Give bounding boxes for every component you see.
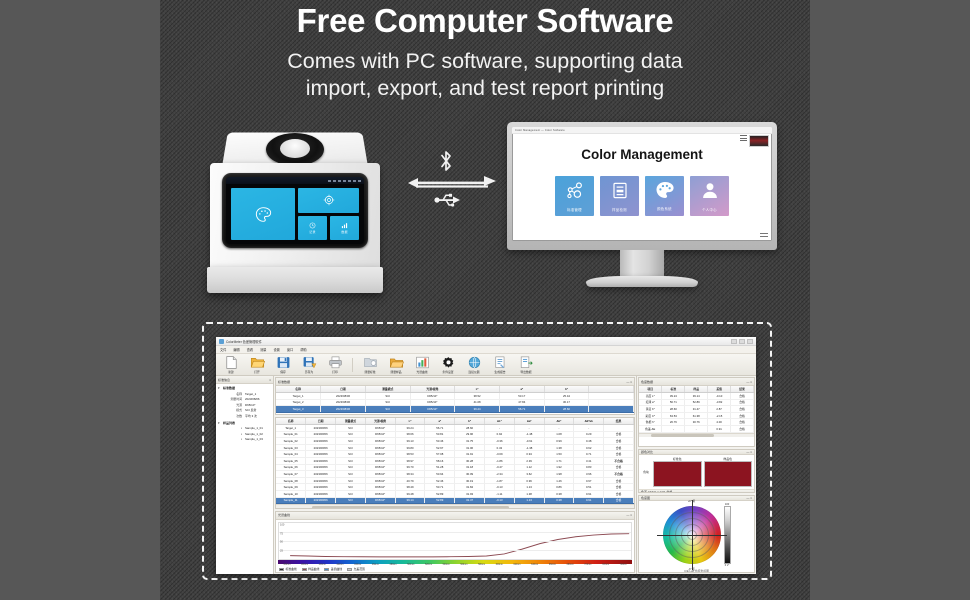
property-value: Target_1 bbox=[245, 392, 256, 396]
maximize-button[interactable] bbox=[739, 339, 745, 344]
device-tile-row: 记录 数据 bbox=[298, 216, 359, 241]
horizontal-scrollbar[interactable] bbox=[639, 433, 754, 437]
cell: 26.76 bbox=[662, 419, 685, 426]
cell: 2023/08/06 bbox=[306, 444, 336, 451]
cell: 0.91 bbox=[574, 497, 604, 504]
y-tick-100: 100 bbox=[280, 523, 284, 526]
minimize-icon[interactable]: — bbox=[746, 450, 749, 454]
cell: 53.81 bbox=[425, 431, 455, 438]
report-icon bbox=[493, 356, 508, 369]
device-tile-grid: 记录 数据 bbox=[231, 188, 359, 240]
cell: 51.28 bbox=[425, 464, 455, 471]
property-row: 光源 D65/10° bbox=[224, 403, 271, 407]
property-key: 次数 bbox=[224, 414, 242, 418]
cell: - bbox=[544, 425, 574, 432]
cell: D65/10° bbox=[365, 425, 395, 432]
toolbar-button-connect-label: 连接仪器 bbox=[468, 370, 479, 374]
table-row[interactable]: Sample_102023/08/06SCID65/10°39.4852.893… bbox=[276, 490, 634, 497]
close-icon[interactable]: × bbox=[750, 496, 752, 500]
cell: -1.86 bbox=[484, 457, 514, 464]
toolbar-button-save[interactable]: 保存 bbox=[272, 356, 294, 374]
palette-icon bbox=[655, 181, 675, 204]
cell: 56.71 bbox=[499, 406, 544, 413]
toolbar-button-measure-sample[interactable]: 测量样品 bbox=[385, 356, 407, 374]
tree-node-standard-data[interactable]: ▾ 标准数据 bbox=[218, 386, 271, 390]
monitor-tile-grid: 标准管理 样品检测 bbox=[555, 176, 729, 216]
tree-sample-item[interactable]: ▪ Sample_1_02 bbox=[224, 432, 271, 436]
minimize-icon[interactable]: — bbox=[746, 496, 749, 500]
cell: Sample_10 bbox=[276, 490, 306, 497]
bar-chart-icon bbox=[341, 222, 348, 229]
cell: 合格 bbox=[604, 484, 634, 491]
cell: 0.48 bbox=[574, 438, 604, 445]
colorimetry-header: 色度数据 — × bbox=[639, 378, 754, 386]
device-status-dot bbox=[333, 180, 336, 182]
scrollbar-thumb[interactable] bbox=[651, 434, 714, 437]
chart-icon bbox=[415, 356, 430, 369]
device-body: 记录 数据 bbox=[210, 163, 380, 281]
standard-data-pane: 标准数据 — × 名称 日期 测量模式 光源/视角 L* bbox=[275, 377, 635, 415]
cell: -0.61 bbox=[514, 438, 544, 445]
legend-label: 允差范围 bbox=[354, 567, 365, 571]
cell: Sample_09 bbox=[276, 484, 306, 491]
menu-item-window[interactable]: 窗口 bbox=[287, 347, 293, 352]
cell: 31.47 bbox=[685, 406, 708, 413]
measure-sample-icon bbox=[389, 356, 404, 369]
property-value: 2023/08/06 bbox=[245, 397, 259, 401]
cell: Sample_01 bbox=[276, 431, 306, 438]
y-tick-50: 50 bbox=[280, 541, 283, 544]
cell: D65/10° bbox=[365, 484, 395, 491]
close-icon[interactable]: × bbox=[750, 380, 752, 384]
toolbar-button-print[interactable]: 打印 bbox=[324, 356, 346, 374]
cell: D65/10° bbox=[365, 431, 395, 438]
colorimetry-panel-buttons[interactable]: — × bbox=[746, 380, 752, 384]
chart-gridlines bbox=[279, 523, 631, 559]
device-tile-data[interactable]: 数据 bbox=[330, 216, 359, 241]
cell: -0.13 bbox=[484, 484, 514, 491]
minimize-icon[interactable]: — bbox=[626, 380, 629, 384]
cell: 合格 bbox=[604, 451, 634, 458]
table-row[interactable]: 色相 h°26.7630.764.00合格 bbox=[639, 419, 754, 426]
table-row[interactable]: Sample_022023/08/06SCID65/10°39.1353.463… bbox=[276, 438, 634, 445]
cell: 39.48 bbox=[395, 490, 425, 497]
wheel-top-label: +b* 黄 bbox=[688, 499, 695, 503]
legend-label: 标准曲线 bbox=[286, 567, 297, 571]
chart-legend: 标准曲线 样品曲线 差值曲线 允差范围 bbox=[276, 566, 634, 572]
cell: 0.91 bbox=[708, 425, 731, 432]
color-compare-title: 颜色对比 bbox=[641, 450, 653, 454]
user-icon bbox=[701, 181, 719, 205]
cell: SCI bbox=[336, 438, 366, 445]
standard-data-table: 名称 日期 测量模式 光源/视角 L* a* b* Target_1 bbox=[276, 386, 634, 413]
cell: 合格 bbox=[604, 497, 634, 504]
target-measure-icon bbox=[323, 194, 335, 206]
cell: SCI bbox=[336, 451, 366, 458]
monitor-tile-standard-management-label: 标准管理 bbox=[567, 207, 582, 212]
close-icon[interactable]: × bbox=[750, 450, 752, 454]
report-list-icon bbox=[611, 181, 629, 205]
toolbar-button-settings[interactable]: 条件设置 bbox=[437, 356, 459, 374]
cell: -1.11 bbox=[484, 490, 514, 497]
toolbar-button-save-label: 保存 bbox=[280, 370, 286, 374]
toolbar-button-open[interactable]: 打开 bbox=[246, 356, 268, 374]
toolbar-button-connect[interactable]: 连接仪器 bbox=[463, 356, 485, 374]
legend-swatch bbox=[324, 568, 329, 571]
connection-indicator bbox=[408, 150, 496, 222]
cell: 1.50 bbox=[544, 451, 574, 458]
cell: 0.99 bbox=[544, 438, 574, 445]
center-panel: 标准数据 — × 名称 日期 测量模式 光源/视角 L* bbox=[274, 376, 636, 574]
tree-sample-label: Sample_1_02 bbox=[245, 432, 263, 436]
tree-sample-bullet: ▪ bbox=[224, 432, 242, 436]
cell: 30.19 bbox=[455, 477, 485, 484]
monitor-frame: Color Management — Color Software Color … bbox=[507, 122, 777, 250]
property-key: 光源 bbox=[224, 403, 242, 407]
cell: 63.53 bbox=[662, 412, 685, 419]
table-row[interactable]: 彩度 C*63.5361.38-2.15合格 bbox=[639, 412, 754, 419]
cell: 40.79 bbox=[395, 477, 425, 484]
cell: 58.16 bbox=[425, 457, 455, 464]
cell: 0.86 bbox=[544, 484, 574, 491]
device-tile-history-label: 记录 bbox=[309, 230, 316, 234]
cell: SCI bbox=[336, 477, 366, 484]
tree-node-sample-list-label: 样品列表 bbox=[223, 421, 235, 425]
monitor-window-title: Color Management — Color Software bbox=[515, 129, 565, 132]
toolbar-button-new[interactable]: 新建 bbox=[220, 356, 242, 374]
menu-item-measure[interactable]: 测量 bbox=[260, 347, 266, 352]
sample-data-table: 名称 日期 测量模式 光源/视角 L* a* b* ΔL* Δa* Δb* ΔE… bbox=[276, 418, 634, 504]
cell: SCI bbox=[336, 425, 366, 432]
tree-node-standard-data-label: 标准数据 bbox=[223, 386, 235, 390]
cell: 39.14 bbox=[685, 393, 708, 400]
cell: 1.38 bbox=[544, 444, 574, 451]
property-row: 模式 SCI 反射 bbox=[224, 408, 271, 412]
device-measure-aperture-icon bbox=[280, 139, 310, 158]
cell: 31.84 bbox=[455, 484, 485, 491]
toolbar-button-spectral-chart[interactable]: 光谱曲线 bbox=[411, 356, 433, 374]
table-row[interactable]: Target_2 2023/08/06 SCI D65/10° 41.08 47… bbox=[276, 399, 634, 406]
cell: 52.46 bbox=[425, 477, 455, 484]
cell: Target_1 bbox=[276, 425, 306, 432]
table-row[interactable]: Sample_032023/08/06SCID65/10°39.8052.973… bbox=[276, 444, 634, 451]
legend-label: 差值曲线 bbox=[331, 567, 342, 571]
cell: 25.44 bbox=[544, 393, 589, 400]
app-icon bbox=[219, 339, 224, 344]
tree-node-sample-list[interactable]: ▾ 样品列表 bbox=[218, 421, 271, 425]
device-status-dot bbox=[328, 180, 331, 182]
wheel-axis-vertical bbox=[692, 500, 693, 570]
cell: 1.92 bbox=[544, 464, 574, 471]
table-row[interactable]: Target_1 2023/08/06 SCI D65/10° 38.52 53… bbox=[276, 393, 634, 400]
cell: -1.87 bbox=[484, 477, 514, 484]
property-value: SCI 反射 bbox=[245, 408, 256, 412]
page-subtitle-line2: import, export, and test report printing bbox=[0, 75, 970, 102]
cell: 2023/08/06 bbox=[306, 497, 336, 504]
app-title: ColorMeter 色差管理软件 bbox=[226, 339, 262, 344]
cell: SCI bbox=[336, 464, 366, 471]
cell: 1.08 bbox=[544, 431, 574, 438]
cell: 合格 bbox=[604, 444, 634, 451]
toolbar-button-measure-standard[interactable]: 测量标准 bbox=[359, 356, 381, 374]
cell: - bbox=[484, 425, 514, 432]
close-button[interactable] bbox=[747, 339, 753, 344]
cell: 2023/08/06 bbox=[306, 425, 336, 432]
left-panel-close-icon[interactable]: × bbox=[269, 378, 271, 382]
table-row[interactable]: Sample_062023/08/06SCID65/10°39.7051.283… bbox=[276, 464, 634, 471]
cell bbox=[589, 393, 634, 400]
minimize-icon[interactable]: — bbox=[626, 513, 629, 517]
cell: 合格 bbox=[604, 477, 634, 484]
page-subtitle-line1: Comes with PC software, supporting data bbox=[0, 48, 970, 75]
toolbar-button-save-as[interactable]: 另存为 bbox=[298, 356, 320, 374]
cell: 3.96 bbox=[574, 471, 604, 478]
table-row[interactable]: 黄蓝 b*28.6031.472.87合格 bbox=[639, 406, 754, 413]
cell: Sample_03 bbox=[276, 444, 306, 451]
spectral-chart-panel-buttons[interactable]: — × bbox=[626, 513, 632, 517]
cell: 28.60 bbox=[544, 406, 589, 413]
monitor-tile-color-system[interactable]: 颜色系统 bbox=[645, 176, 684, 216]
toolbar-button-export[interactable]: 导出数据 bbox=[515, 356, 537, 374]
page-title: Free Computer Software bbox=[0, 2, 970, 40]
horizontal-scrollbar[interactable] bbox=[276, 504, 634, 508]
table-row[interactable]: Sample_072023/08/06SCID65/10°38.3453.943… bbox=[276, 471, 634, 478]
cell: 2023/08/06 bbox=[321, 406, 366, 413]
cell: 合格 bbox=[731, 419, 754, 426]
spectral-chart-header: 光谱曲线 — × bbox=[276, 512, 634, 520]
table-row-selected[interactable]: Target_3 2023/08/06 SCI D65/10° 39.24 56… bbox=[276, 406, 634, 413]
cell: D65/10° bbox=[365, 490, 395, 497]
legend-swatch bbox=[347, 568, 352, 571]
menu-item-view[interactable]: 查看 bbox=[247, 347, 253, 352]
cell: 39.80 bbox=[395, 444, 425, 451]
toolbar-button-export-label: 导出数据 bbox=[520, 370, 531, 374]
standard-color-swatch bbox=[653, 461, 702, 487]
device-tile-measure[interactable] bbox=[298, 188, 359, 213]
color-compare-footer: 色差 ΔE*ab = 0.91 合格 bbox=[639, 489, 754, 493]
table-row-selected[interactable]: Sample_112023/08/06SCID65/10°39.1452.893… bbox=[276, 497, 634, 504]
cell: Target_1 bbox=[276, 393, 321, 400]
minimize-button[interactable] bbox=[731, 339, 737, 344]
cell: 56.71 bbox=[662, 399, 685, 406]
cell: 53.46 bbox=[425, 438, 455, 445]
cell: SCI bbox=[336, 490, 366, 497]
app-body: 标准信息 × ▾ 标准数据 名称 Target_1 测量时间 2023/08/0… bbox=[216, 376, 756, 574]
cell: 2023/08/06 bbox=[306, 484, 336, 491]
cell: 不合格 bbox=[604, 471, 634, 478]
cell: 39.70 bbox=[395, 464, 425, 471]
cell: 57.08 bbox=[425, 451, 455, 458]
cell: SCI bbox=[336, 484, 366, 491]
monitor-tile-standard-management[interactable]: 标准管理 bbox=[555, 176, 594, 216]
tree-sample-item[interactable]: ▪ Sample_1_03 bbox=[224, 437, 271, 441]
table-row[interactable]: 色差 ΔE--0.91合格 bbox=[639, 425, 754, 432]
cell: 29.96 bbox=[455, 431, 485, 438]
cell: 30.09 bbox=[455, 471, 485, 478]
cell: 红绿 a* bbox=[639, 399, 662, 406]
property-row: 名称 Target_1 bbox=[224, 392, 271, 396]
table-row[interactable]: Sample_042023/08/06SCID65/10°38.5357.083… bbox=[276, 451, 634, 458]
right-panel: 色度数据 — × 项目 标准 样品 差值 结果 bbox=[636, 376, 756, 574]
cell: 31.18 bbox=[455, 464, 485, 471]
legend-item-difference[interactable]: 差值曲线 bbox=[324, 567, 342, 571]
cell: 0.97 bbox=[574, 477, 604, 484]
cie-lab-color-wheel[interactable]: +b* 黄 -b* 蓝 bbox=[663, 506, 721, 564]
cell: 2023/08/06 bbox=[306, 477, 336, 484]
property-key: 模式 bbox=[224, 408, 242, 412]
toolbar-button-settings-label: 条件设置 bbox=[442, 370, 453, 374]
toolbar-button-report[interactable]: 生成报告 bbox=[489, 356, 511, 374]
legend-item-tolerance[interactable]: 允差范围 bbox=[347, 567, 365, 571]
gray-scale-bottom-label: 0 L* bbox=[725, 564, 730, 567]
cell: 2023/08/06 bbox=[306, 464, 336, 471]
cell: 28.60 bbox=[662, 406, 685, 413]
new-document-icon bbox=[224, 356, 239, 369]
cell: 4.00 bbox=[708, 419, 731, 426]
cell: 2.39 bbox=[514, 457, 544, 464]
cell: 38.34 bbox=[395, 471, 425, 478]
cell: SCI bbox=[336, 471, 366, 478]
property-value: D65/10° bbox=[245, 403, 255, 407]
cell: 亮度 L* bbox=[639, 393, 662, 400]
close-icon[interactable]: × bbox=[630, 380, 632, 384]
wheel-bottom-label: -b* 蓝 bbox=[688, 567, 695, 571]
colorimetry-table: 项目 标准 样品 差值 结果 亮度 L*39.2439.14-0.10合格红绿 … bbox=[639, 386, 754, 433]
monitor-tile-user-center[interactable]: 个人中心 bbox=[690, 176, 729, 216]
colorimetry-title: 色度数据 bbox=[641, 380, 653, 384]
cell: 2023/08/06 bbox=[321, 393, 366, 400]
table-row[interactable]: 红绿 a*56.7152.89-3.82合格 bbox=[639, 399, 754, 406]
cell: 53.94 bbox=[425, 471, 455, 478]
minimize-icon[interactable]: — bbox=[746, 380, 749, 384]
pc-software-window: ColorMeter 色差管理软件 文件 编辑 查看 测量 设置 窗口 帮助 新… bbox=[216, 337, 756, 574]
cell: -0.13 bbox=[484, 497, 514, 504]
menu-item-help[interactable]: 帮助 bbox=[300, 347, 306, 352]
palette-icon bbox=[255, 207, 272, 222]
device-tile-history[interactable]: 记录 bbox=[298, 216, 327, 241]
open-folder-icon bbox=[250, 356, 265, 369]
cell: 2023/08/06 bbox=[306, 438, 336, 445]
measure-standard-icon bbox=[363, 356, 378, 369]
cell bbox=[589, 406, 634, 413]
tree-sample-item[interactable]: ▪ Sample_1_01 bbox=[224, 426, 271, 430]
cell: 合格 bbox=[604, 464, 634, 471]
table-row[interactable]: Sample_052023/08/06SCID65/10°38.9758.163… bbox=[276, 457, 634, 464]
cell: 52.89 bbox=[425, 490, 455, 497]
colorimetry-table-body: 亮度 L*39.2439.14-0.10合格红绿 a*56.7152.89-3.… bbox=[639, 393, 754, 433]
menu-item-file[interactable]: 文件 bbox=[220, 347, 226, 352]
export-icon bbox=[519, 356, 534, 369]
cell: 合格 bbox=[731, 393, 754, 400]
cell: Target_2 bbox=[276, 399, 321, 406]
scrollbar-thumb[interactable] bbox=[312, 506, 509, 509]
cell: 1.71 bbox=[544, 457, 574, 464]
monitor-tile-sample-detection[interactable]: 样品检测 bbox=[600, 176, 639, 216]
cell: D65/10° bbox=[410, 399, 455, 406]
chevron-down-icon[interactable]: ▾ bbox=[218, 386, 221, 390]
menu-item-edit[interactable]: 编辑 bbox=[233, 347, 239, 352]
cell: D65/10° bbox=[365, 438, 395, 445]
table-row[interactable]: 亮度 L*39.2439.14-0.10合格 bbox=[639, 393, 754, 400]
app-titlebar: ColorMeter 色差管理软件 bbox=[216, 337, 756, 346]
monitor-corner-preview-thumbnail bbox=[749, 135, 769, 147]
device-tile-color-difference[interactable] bbox=[231, 188, 295, 240]
cell: 2023/08/06 bbox=[306, 457, 336, 464]
cell: 0.91 bbox=[574, 490, 604, 497]
cell: 53.71 bbox=[425, 484, 455, 491]
monitor-tile-color-system-label: 颜色系统 bbox=[657, 206, 672, 211]
monitor-corner-lines-icon bbox=[740, 135, 747, 143]
property-row: 测量时间 2023/08/06 bbox=[224, 397, 271, 401]
cell: 30.17 bbox=[544, 399, 589, 406]
cell: 3.41 bbox=[574, 457, 604, 464]
table-row[interactable]: Sample_092023/08/06SCID65/10°38.4953.713… bbox=[276, 484, 634, 491]
cell: SCI bbox=[336, 497, 366, 504]
cell bbox=[589, 399, 634, 406]
menu-item-settings[interactable]: 设置 bbox=[274, 347, 280, 352]
history-clock-icon bbox=[309, 222, 316, 229]
usb-icon bbox=[434, 192, 460, 213]
property-key: 测量时间 bbox=[224, 397, 242, 401]
legend-item-standard[interactable]: 标准曲线 bbox=[279, 567, 297, 571]
cell: 合格 bbox=[731, 399, 754, 406]
legend-item-sample[interactable]: 样品曲线 bbox=[302, 567, 320, 571]
monitor-window-titlebar: Color Management — Color Software bbox=[512, 127, 772, 134]
sample-data-pane: 名称 日期 测量模式 光源/视角 L* a* b* ΔL* Δa* Δb* ΔE… bbox=[275, 417, 635, 509]
device-base bbox=[207, 267, 383, 293]
save-as-icon bbox=[302, 356, 317, 369]
cell: 合格 bbox=[604, 490, 634, 497]
cell: SCI bbox=[365, 406, 410, 413]
monitor-bottom-lines-icon bbox=[760, 233, 768, 238]
cell: 色相 h° bbox=[639, 419, 662, 426]
chromaticity-panel-buttons[interactable]: — × bbox=[746, 496, 752, 500]
device-status-dot bbox=[353, 180, 356, 182]
cell: 39.24 bbox=[455, 406, 500, 413]
cell: 39.13 bbox=[395, 438, 425, 445]
cell: Sample_11 bbox=[276, 497, 306, 504]
cell: 53.17 bbox=[499, 393, 544, 400]
table-row[interactable]: Target_12023/08/06SCID65/10°39.2456.7128… bbox=[276, 425, 634, 432]
device-screen: 记录 数据 bbox=[226, 177, 364, 244]
cell: 彩度 C* bbox=[639, 412, 662, 419]
cell: D65/10° bbox=[365, 457, 395, 464]
cell: -2.15 bbox=[708, 412, 731, 419]
cell: 2023/08/06 bbox=[321, 399, 366, 406]
app-toolbar: 新建 打开 保存 另存为 bbox=[216, 354, 756, 376]
cell: SCI bbox=[336, 444, 366, 451]
color-compare-panel-buttons[interactable]: — × bbox=[746, 450, 752, 454]
y-tick-75: 75 bbox=[280, 532, 283, 535]
table-row[interactable]: Sample_012023/08/06SCID65/10°38.6653.812… bbox=[276, 431, 634, 438]
property-row: 次数 平均 3 次 bbox=[224, 414, 271, 418]
cell: 52.97 bbox=[425, 444, 455, 451]
cell: 39.24 bbox=[395, 425, 425, 432]
toolbar-button-report-label: 生成报告 bbox=[494, 370, 505, 374]
sample-color-swatch bbox=[704, 461, 753, 487]
toolbar-button-spectral-chart-label: 光谱曲线 bbox=[416, 370, 427, 374]
spectral-chart-title: 光谱曲线 bbox=[278, 513, 290, 517]
close-icon[interactable]: × bbox=[630, 513, 632, 517]
chevron-down-icon[interactable]: ▾ bbox=[218, 421, 221, 425]
monitor-stand-base bbox=[586, 276, 698, 287]
cell: 0.38 bbox=[544, 490, 574, 497]
cell: Sample_04 bbox=[276, 451, 306, 458]
standard-data-panel-buttons[interactable]: — × bbox=[626, 380, 632, 384]
device-status-dot bbox=[358, 180, 361, 182]
cell: D65/10° bbox=[365, 497, 395, 504]
table-row[interactable]: Sample_082023/08/06SCID65/10°40.7952.463… bbox=[276, 477, 634, 484]
